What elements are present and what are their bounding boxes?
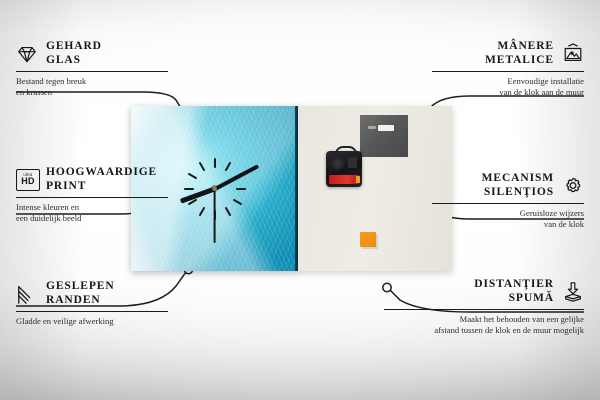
callout-subtitle: Bestand tegen breuk en krassen — [16, 76, 168, 97]
callout-gehard-glas: GEHARD GLAS Bestand tegen breuk en krass… — [16, 40, 168, 97]
callout-divider — [16, 71, 168, 72]
quartz-mechanism — [326, 151, 362, 187]
callout-subtitle: Eenvoudige installatie van de klok aan d… — [432, 76, 584, 97]
gear-icon — [562, 175, 584, 197]
callout-hoogwaardige-print: ultra HD HOOGWAARDIGE PRINT Intense kleu… — [16, 166, 168, 223]
clock-back-panel — [298, 106, 452, 271]
callout-divider — [384, 309, 584, 310]
callout-divider — [16, 311, 168, 312]
hanger-slot-secondary — [368, 126, 376, 129]
hanger-slot — [378, 125, 394, 131]
callout-title: GESLEPEN RANDEN — [46, 280, 115, 307]
battery — [329, 175, 359, 184]
callout-header: GEHARD GLAS — [16, 40, 168, 67]
callout-distantier-spuma: DISTANŢIER SPUMĂ Maakt het behouden van … — [384, 278, 584, 335]
mechanism-chip — [348, 157, 357, 168]
callout-manere-metalice: MÂNERE METALICE Eenvoudige installatie v… — [432, 40, 584, 97]
callout-geslepen-randen: GESLEPEN RANDEN Gladde en veilige afwerk… — [16, 280, 168, 327]
callout-mecanism-silentios: MECANISM SILENŢIOS Geruisloze wijzers va… — [432, 172, 584, 229]
callout-header: DISTANŢIER SPUMĂ — [384, 278, 584, 305]
callout-header: GESLEPEN RANDEN — [16, 280, 168, 307]
callout-header: ultra HD HOOGWAARDIGE PRINT — [16, 166, 168, 193]
callout-divider — [432, 203, 584, 204]
metal-hanger-plate — [360, 115, 408, 157]
callout-title: MÂNERE METALICE — [485, 40, 554, 67]
callout-header: MÂNERE METALICE — [432, 40, 584, 67]
callout-title: HOOGWAARDIGE PRINT — [46, 166, 157, 193]
product-image — [131, 106, 452, 271]
second-hand — [214, 189, 216, 243]
callout-subtitle: Intense kleuren en een duidelijk beeld — [16, 202, 168, 223]
infographic-canvas: GEHARD GLAS Bestand tegen breuk en krass… — [0, 0, 600, 400]
callout-divider — [432, 71, 584, 72]
callout-subtitle: Gladde en veilige afwerking — [16, 316, 168, 327]
beveled-edges-icon — [16, 283, 38, 305]
callout-subtitle: Maakt het behouden van een gelijke afsta… — [384, 314, 584, 335]
foam-spacer — [360, 232, 376, 247]
callout-title: MECANISM SILENŢIOS — [482, 172, 554, 199]
mechanism-hanging-loop — [335, 146, 357, 157]
callout-divider — [16, 197, 168, 198]
picture-frame-icon — [562, 43, 584, 65]
callout-subtitle: Geruisloze wijzers van de klok — [432, 208, 584, 229]
diamond-icon — [16, 43, 38, 65]
ultra-hd-icon: ultra HD — [16, 169, 38, 191]
callout-title: GEHARD GLAS — [46, 40, 102, 67]
mechanism-dial — [331, 157, 344, 170]
clock-hands-hub — [212, 186, 217, 191]
spacer-arrow-icon — [562, 281, 584, 303]
callout-header: MECANISM SILENŢIOS — [432, 172, 584, 199]
callout-title: DISTANŢIER SPUMĂ — [474, 278, 554, 305]
